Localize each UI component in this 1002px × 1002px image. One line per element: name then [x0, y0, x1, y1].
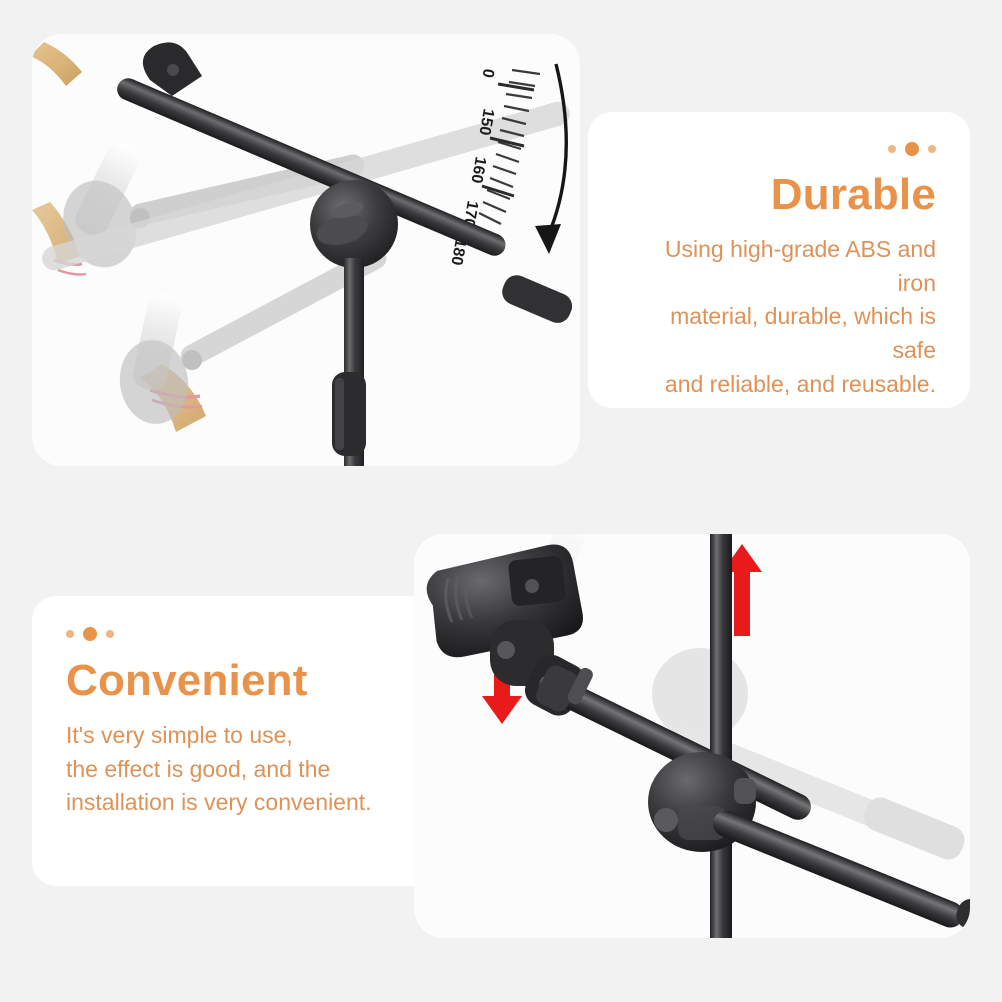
convenient-product-illustration [414, 534, 970, 938]
convenient-text-inner: Convenient It's very simple to use, the … [32, 596, 432, 886]
main-vertical-pole [710, 534, 732, 938]
accent-dot-small-left [66, 630, 74, 638]
feature-grid: 0 150 160 170 180 [0, 0, 1002, 1002]
durable-title: Durable [622, 170, 936, 219]
accent-dot-small-right [928, 145, 936, 153]
durable-product-illustration: 0 150 160 170 180 [32, 34, 580, 466]
convenient-dot-accent [66, 626, 398, 642]
durable-description: Using high-grade ABS and iron material, … [622, 233, 936, 401]
accent-dot-large [905, 142, 919, 156]
durable-text-panel: Durable Using high-grade ABS and iron ma… [588, 112, 970, 408]
durable-photo-panel: 0 150 160 170 180 [32, 34, 580, 466]
convenient-photo-panel [414, 534, 970, 938]
accent-dot-small-left [888, 145, 896, 153]
convenient-text-panel: Convenient It's very simple to use, the … [32, 596, 432, 886]
accent-dot-small-right [106, 630, 114, 638]
durable-dot-accent [622, 142, 936, 156]
durable-text-inner: Durable Using high-grade ABS and iron ma… [588, 112, 970, 408]
accent-dot-large [83, 627, 97, 641]
boom-hub [310, 180, 398, 268]
convenient-title: Convenient [66, 656, 398, 705]
convenient-description: It's very simple to use, the effect is g… [66, 719, 398, 820]
